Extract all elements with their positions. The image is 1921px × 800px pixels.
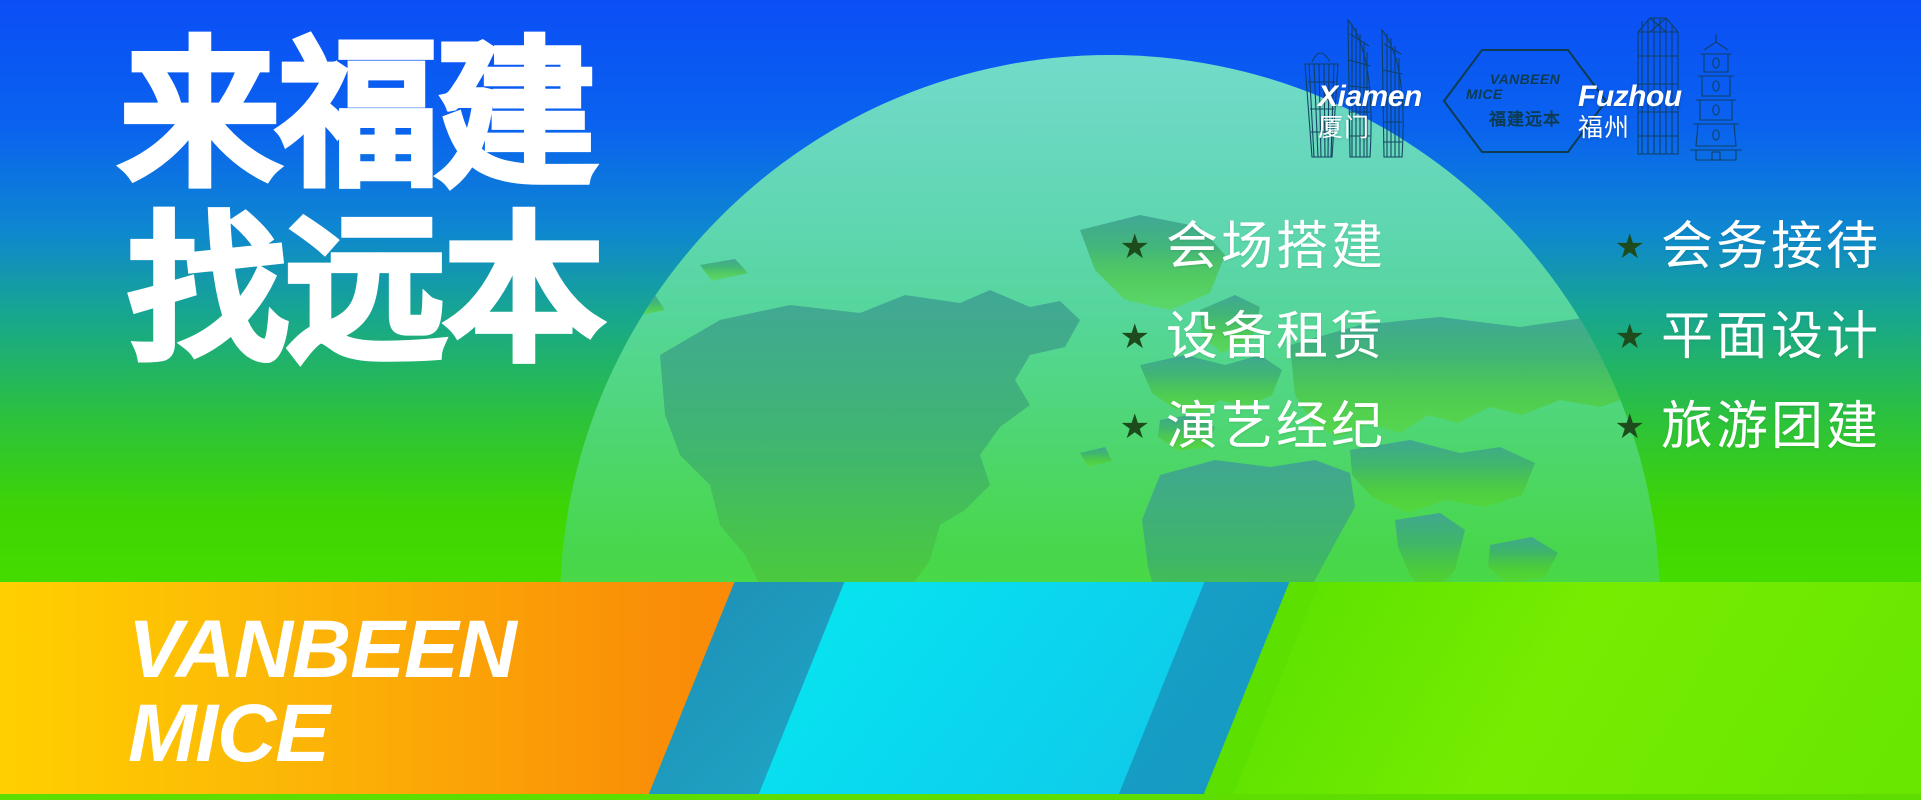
brand-lockup: VANBEEN MICE (128, 610, 516, 775)
star-icon: ★ (1120, 320, 1150, 354)
city-name-en-xiamen: Xiamen (1318, 82, 1422, 112)
service-label: 设备租赁 (1166, 311, 1411, 363)
headline-line-2: 找远本 (128, 213, 720, 368)
city-name-cn-fuzhou: 福州 (1578, 116, 1682, 141)
service-label: 平面设计 (1661, 311, 1906, 363)
service-label: 会务接待 (1661, 221, 1906, 273)
star-icon: ★ (1615, 410, 1645, 444)
city-strip: VANBEEN MICE 福建远本 (1290, 8, 1910, 178)
promo-banner: 来福建 找远本 (0, 0, 1921, 800)
city-label-xiamen: Xiamen 厦门 (1318, 82, 1422, 141)
service-item: ★ 设备租赁 (916, 298, 1411, 376)
service-list: ★ 会场搭建 ★ 会务接待 ★ 设备租赁 ★ 平面设计 ★ 演艺经纪 ★ 旅游团… (916, 208, 1906, 466)
hex-logo-line-1: VANBEEN (1490, 72, 1560, 87)
brand-line-2: MICE (128, 694, 516, 774)
service-label: 旅游团建 (1661, 401, 1906, 453)
hero-section: 来福建 找远本 (0, 0, 1921, 582)
service-label: 演艺经纪 (1166, 401, 1411, 453)
service-item: ★ 平面设计 (1411, 298, 1906, 376)
hex-logo-line-2: MICE (1466, 87, 1503, 102)
service-item: ★ 演艺经纪 (916, 388, 1411, 466)
star-icon: ★ (1120, 410, 1150, 444)
city-name-en-fuzhou: Fuzhou (1578, 82, 1682, 112)
city-label-fuzhou: Fuzhou 福州 (1578, 82, 1682, 141)
diagonal-band-green (1222, 582, 1921, 800)
headline-line-1: 来福建 (120, 38, 720, 193)
city-name-cn-xiamen: 厦门 (1318, 116, 1422, 141)
headline: 来福建 找远本 (120, 38, 720, 368)
service-item: ★ 旅游团建 (1411, 388, 1906, 466)
star-icon: ★ (1615, 320, 1645, 354)
hex-logo-line-3: 福建远本 (1489, 105, 1561, 130)
service-label: 会场搭建 (1166, 221, 1411, 273)
star-icon: ★ (1615, 230, 1645, 264)
bottom-brand-bar: VANBEEN MICE (0, 582, 1921, 800)
brand-line-1: VANBEEN (128, 610, 516, 690)
service-item: ★ 会务接待 (1411, 208, 1906, 286)
service-item: ★ 会场搭建 (916, 208, 1411, 286)
bottom-green-sliver (0, 794, 1921, 800)
star-icon: ★ (1120, 230, 1150, 264)
